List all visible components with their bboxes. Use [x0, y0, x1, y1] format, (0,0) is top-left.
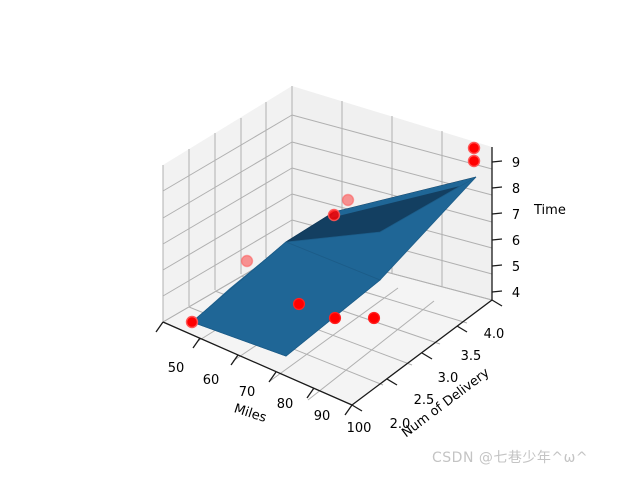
z-axis-label: Time — [533, 203, 566, 218]
scatter-point — [330, 313, 341, 324]
x-tick — [193, 338, 200, 348]
z-tick-label: 9 — [512, 156, 520, 171]
scatter-point — [343, 195, 354, 206]
scatter-point — [469, 156, 480, 167]
scatter-point — [242, 256, 253, 267]
x-tick-label: 100 — [347, 421, 372, 436]
csdn-watermark: CSDN @七巷少年^ω^ — [432, 447, 588, 467]
x-axis-label: Miles — [232, 401, 268, 426]
z-tick — [492, 265, 502, 266]
z-tick-label: 5 — [512, 260, 520, 275]
scatter-point — [329, 210, 340, 221]
x-tick-label: 90 — [314, 409, 331, 424]
y-tick-label: 4.0 — [484, 327, 505, 342]
y-tick — [422, 353, 432, 359]
x-tick-label: 60 — [203, 373, 220, 388]
z-tick-labels: 4 5 6 7 8 9 — [512, 156, 520, 301]
x-tick-label: 70 — [239, 385, 256, 400]
x-tick — [231, 355, 238, 365]
z-tick-label: 8 — [512, 182, 520, 197]
scatter-point — [469, 143, 480, 154]
z-tick — [492, 187, 502, 188]
x-tick — [345, 405, 352, 415]
y-tick — [457, 326, 467, 332]
y-tick — [387, 379, 397, 385]
axes3d-plot: 50 60 70 80 90 100 2.0 2.5 3.0 3.5 4.0 4… — [0, 0, 640, 480]
z-tick-label: 6 — [512, 234, 520, 249]
y-tick — [352, 405, 362, 411]
x-tick — [156, 322, 163, 332]
scatter-point — [294, 299, 305, 310]
z-tick — [492, 239, 502, 240]
z-tick-label: 4 — [512, 286, 520, 301]
matplotlib-figure: 50 60 70 80 90 100 2.0 2.5 3.0 3.5 4.0 4… — [0, 0, 640, 480]
scatter-point — [187, 317, 198, 328]
z-tick-label: 7 — [512, 208, 520, 223]
z-tick — [492, 291, 502, 292]
z-tick — [492, 213, 502, 214]
y-tick-label: 3.0 — [438, 371, 459, 386]
x-tick-label: 50 — [168, 361, 185, 376]
z-tick — [492, 161, 502, 162]
scatter-point — [369, 313, 380, 324]
x-tick-label: 80 — [277, 397, 294, 412]
y-tick — [492, 300, 502, 306]
y-tick-label: 3.5 — [461, 349, 482, 364]
